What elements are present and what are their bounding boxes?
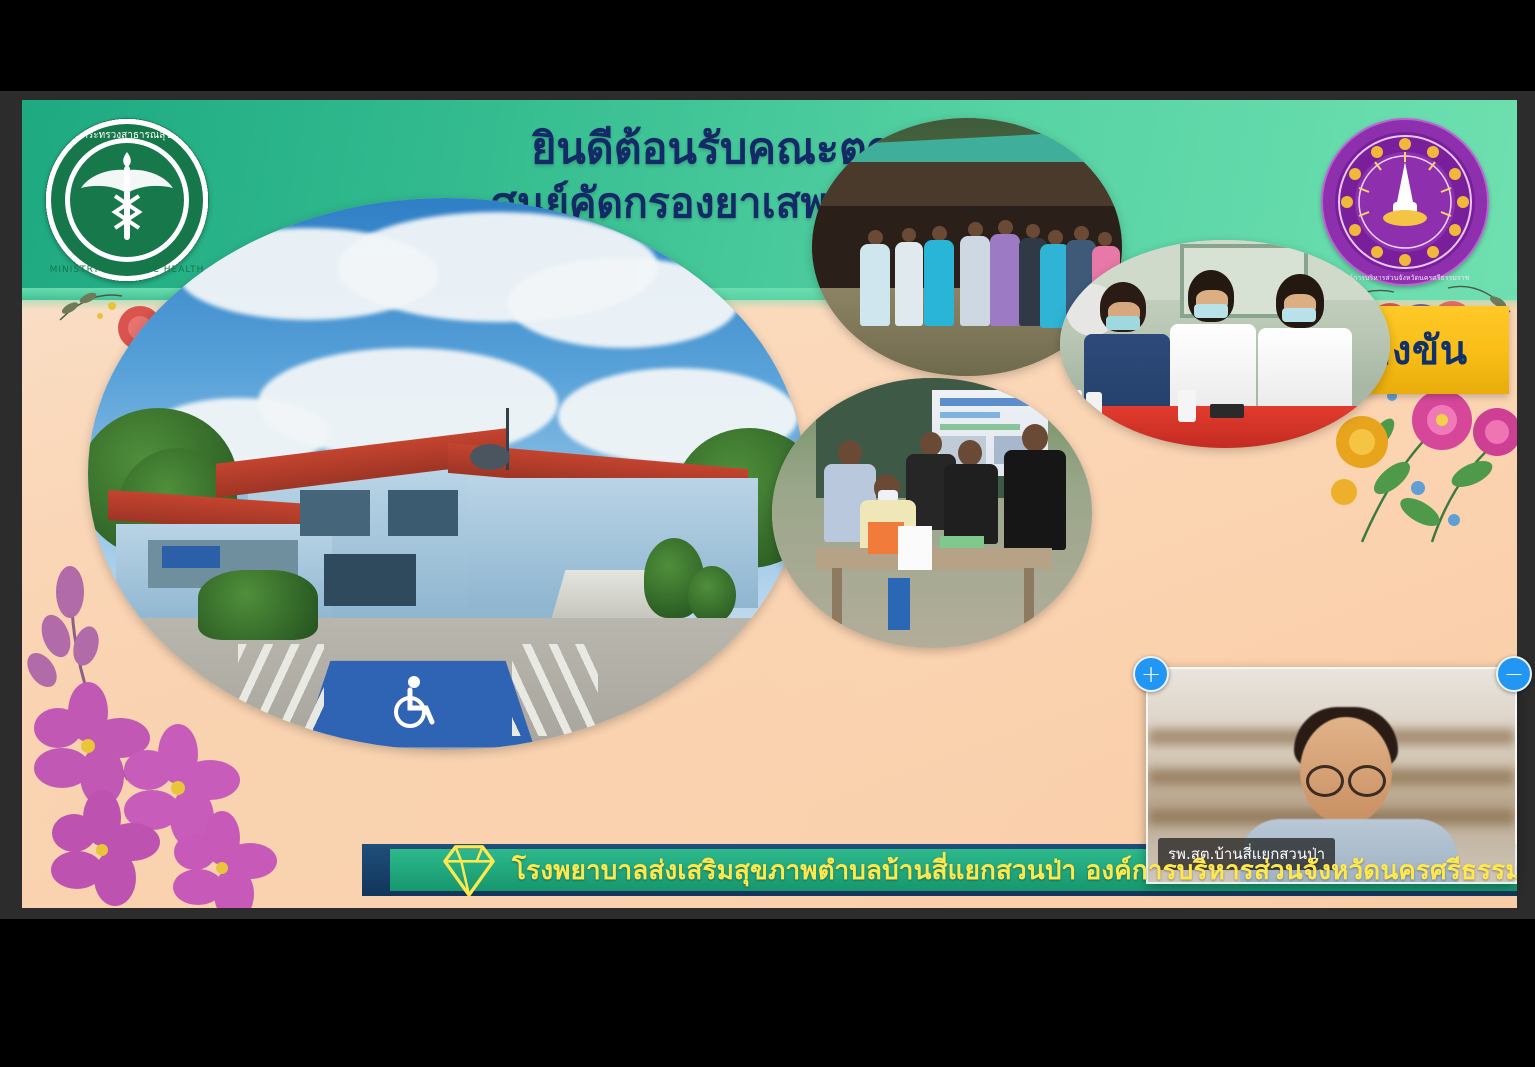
diamond-glyph-footer (440, 842, 498, 898)
wheelchair-parking-symbol (384, 672, 444, 732)
video-call-stage: กระทรวงสาธารณสุข MINISTRY OF PUBLIC HEAL… (0, 0, 1535, 1067)
diamond-icon (424, 842, 514, 908)
collapse-thumbnail-button[interactable]: − (1496, 656, 1532, 692)
glasses-icon (1306, 765, 1386, 791)
footer-ribbon: โรงพยาบาลส่งเสริมสุขภาพตำบลบ้านสี่แยกสวน… (362, 844, 1517, 896)
footer-ribbon-text: โรงพยาบาลส่งเสริมสุขภาพตำบลบ้านสี่แยกสวน… (512, 850, 1517, 891)
photo-screening-registration-desk (772, 378, 1092, 648)
svg-text:กระทรวงสาธารณสุข: กระทรวงสาธารณสุข (82, 130, 172, 141)
minus-icon: − (1504, 662, 1524, 686)
photo-health-center-building (88, 198, 804, 750)
plus-icon: + (1141, 662, 1161, 686)
expand-thumbnail-button[interactable]: + (1133, 656, 1169, 692)
photo-urine-drug-screening-lab (1060, 240, 1390, 448)
